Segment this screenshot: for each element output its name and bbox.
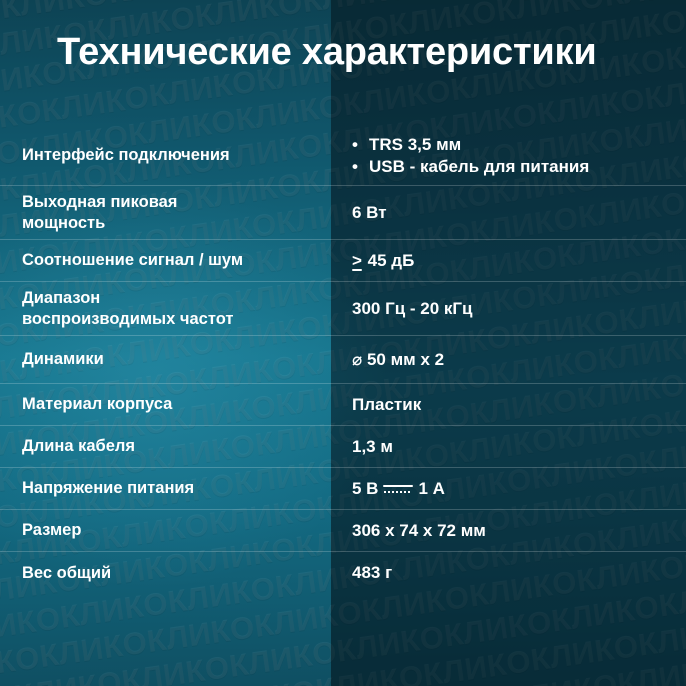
spec-value: 1,3 м — [331, 436, 686, 458]
spec-value-text: 5 В1 А — [352, 479, 445, 498]
spec-row: Соотношение сигнал / шум> 45 дБ — [0, 240, 686, 282]
spec-sheet-page: КЛИКОКЛИКОКЛИКОКЛИКОКЛИКОКЛИКОКЛИКОКЛИКО… — [0, 0, 686, 686]
spec-value: 306 x 74 x 72 мм — [331, 520, 686, 542]
spec-value-text: 306 x 74 x 72 мм — [352, 521, 486, 540]
spec-label-line: Диапазон — [22, 288, 313, 309]
spec-row: Длина кабеля1,3 м — [0, 426, 686, 468]
spec-value-bullet-item: TRS 3,5 мм — [352, 134, 670, 156]
spec-row: Динамики⌀ 50 мм x 2 — [0, 336, 686, 384]
spec-value-bullet-list: TRS 3,5 ммUSB - кабель для питания — [352, 134, 670, 178]
spec-label: Выходная пиковаямощность — [0, 192, 331, 234]
spec-value: 5 В1 А — [331, 478, 686, 500]
spec-value: 6 Вт — [331, 202, 686, 224]
spec-label: Динамики — [0, 349, 331, 370]
spec-row: Выходная пиковаямощность6 Вт — [0, 186, 686, 240]
spec-value: 300 Гц - 20 кГц — [331, 298, 686, 320]
spec-value-text: 300 Гц - 20 кГц — [352, 299, 473, 318]
current-value: 1 А — [418, 479, 444, 498]
spec-row: Напряжение питания5 В1 А — [0, 468, 686, 510]
spec-label: Длина кабеля — [0, 436, 331, 457]
spec-value: > 45 дБ — [331, 250, 686, 272]
spec-label: Соотношение сигнал / шум — [0, 250, 331, 271]
page-title: Технические характеристики — [57, 31, 597, 74]
spec-row: Диапазонвоспроизводимых частот300 Гц - 2… — [0, 282, 686, 336]
spec-value-text: > 45 дБ — [352, 251, 414, 270]
spec-label-line: мощность — [22, 213, 313, 234]
spec-value-bullet-item: USB - кабель для питания — [352, 156, 670, 178]
spec-value: TRS 3,5 ммUSB - кабель для питания — [331, 134, 686, 178]
spec-value: 483 г — [331, 562, 686, 584]
spec-row: Вес общий483 г — [0, 552, 686, 594]
spec-value: ⌀ 50 мм x 2 — [331, 349, 686, 371]
spec-value-text: 6 Вт — [352, 203, 387, 222]
spec-label: Вес общий — [0, 563, 331, 584]
spec-label: Материал корпуса — [0, 394, 331, 415]
dc-power-icon — [383, 482, 413, 495]
spec-label-line: воспроизводимых частот — [22, 309, 313, 330]
spec-value-text: 1,3 м — [352, 437, 393, 456]
spec-table: Интерфейс подключенияTRS 3,5 ммUSB - каб… — [0, 126, 686, 594]
spec-label: Размер — [0, 520, 331, 541]
spec-value-text: Пластик — [352, 395, 421, 414]
spec-row: Интерфейс подключенияTRS 3,5 ммUSB - каб… — [0, 126, 686, 186]
spec-label-line: Выходная пиковая — [22, 192, 313, 213]
voltage-value: 5 В — [352, 479, 378, 498]
spec-label: Интерфейс подключения — [0, 145, 331, 166]
spec-label: Напряжение питания — [0, 478, 331, 499]
spec-row: Материал корпусаПластик — [0, 384, 686, 426]
spec-label: Диапазонвоспроизводимых частот — [0, 288, 331, 330]
spec-value-text: ⌀ 50 мм x 2 — [352, 350, 444, 369]
spec-row: Размер306 x 74 x 72 мм — [0, 510, 686, 552]
spec-value-text: 483 г — [352, 563, 392, 582]
spec-value: Пластик — [331, 394, 686, 416]
greater-or-equal-icon: > — [352, 250, 363, 272]
